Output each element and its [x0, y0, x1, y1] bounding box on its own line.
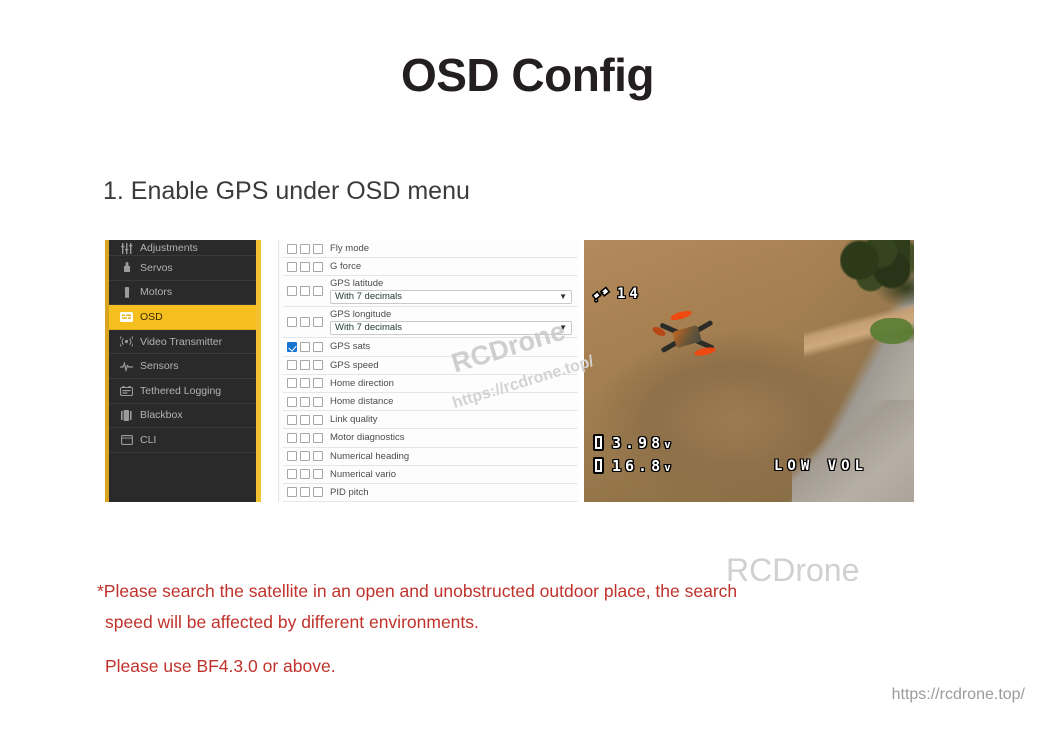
list-item[interactable]: Link quality — [283, 411, 578, 429]
osd-checkbox[interactable] — [300, 378, 310, 388]
osd-checkbox[interactable] — [300, 286, 310, 296]
betaflight-screenshot: Adjustments Servos Motors OSD Video Tran — [105, 240, 914, 502]
osd-checkbox[interactable] — [287, 378, 297, 388]
osd-checkbox[interactable] — [300, 487, 310, 497]
osd-checkbox[interactable] — [287, 433, 297, 443]
tree-canopy — [840, 240, 910, 294]
osd-checkbox[interactable] — [313, 286, 323, 296]
log-icon — [120, 385, 133, 397]
osd-checkbox-checked[interactable] — [287, 342, 297, 352]
osd-checkbox[interactable] — [300, 451, 310, 461]
gps-longitude-precision-select[interactable]: With 7 decimals ▼ — [330, 321, 572, 335]
checkbox-group[interactable] — [287, 286, 330, 296]
firmware-note: Please use BF4.3.0 or above. — [105, 656, 336, 677]
osd-screen-icon — [120, 311, 133, 323]
checkbox-group[interactable] — [287, 469, 330, 479]
osd-element-label: Home distance — [330, 396, 393, 407]
osd-checkbox[interactable] — [313, 342, 323, 352]
list-item[interactable]: Home distance — [283, 393, 578, 411]
osd-element-label: G force — [330, 261, 361, 272]
blackbox-icon — [120, 409, 133, 421]
checkbox-group[interactable] — [287, 378, 330, 388]
osd-element-label: Fly mode — [330, 243, 369, 254]
osd-element-label: Link quality — [330, 414, 378, 425]
panel-divider — [261, 240, 278, 502]
checkbox-group[interactable] — [287, 360, 330, 370]
servo-icon — [120, 262, 133, 274]
list-item[interactable]: Motor diagnostics — [283, 429, 578, 447]
osd-element-label: GPS speed — [330, 360, 379, 371]
osd-checkbox[interactable] — [300, 415, 310, 425]
footer-url: https://rcdrone.top/ — [892, 686, 1025, 704]
osd-elements-list: Fly mode G force GPS latitude With 7 dec… — [278, 240, 578, 502]
drone-quadcopter — [652, 310, 724, 366]
osd-checkbox[interactable] — [300, 262, 310, 272]
motor-icon — [120, 286, 133, 298]
osd-checkbox[interactable] — [287, 317, 297, 327]
checkbox-group[interactable] — [287, 415, 330, 425]
sidebar-item-label: Sensors — [140, 360, 179, 372]
sidebar-item-adjustments[interactable]: Adjustments — [109, 240, 256, 256]
osd-checkbox[interactable] — [287, 451, 297, 461]
grass-patch — [870, 318, 912, 344]
osd-checkbox[interactable] — [300, 397, 310, 407]
betaflight-sidebar: Adjustments Servos Motors OSD Video Tran — [105, 240, 261, 502]
osd-element-label: Motor diagnostics — [330, 432, 404, 443]
list-item[interactable]: Numerical heading — [283, 448, 578, 466]
sidebar-item-label: Blackbox — [140, 409, 183, 421]
page-title: OSD Config — [0, 48, 1055, 102]
osd-checkbox[interactable] — [313, 262, 323, 272]
terminal-icon — [120, 434, 133, 446]
sidebar-item-blackbox[interactable]: Blackbox — [109, 404, 256, 429]
osd-checkbox[interactable] — [287, 262, 297, 272]
sidebar-item-label: Video Transmitter — [140, 336, 222, 348]
gps-latitude-precision-select[interactable]: With 7 decimals ▼ — [330, 290, 572, 304]
checkbox-group[interactable] — [287, 451, 330, 461]
sidebar-item-motors[interactable]: Motors — [109, 281, 256, 306]
checkbox-group[interactable] — [287, 433, 330, 443]
osd-checkbox[interactable] — [300, 317, 310, 327]
list-item[interactable]: Home direction — [283, 375, 578, 393]
checkbox-group[interactable] — [287, 397, 330, 407]
propeller — [669, 309, 692, 322]
osd-checkbox[interactable] — [300, 342, 310, 352]
waveform-icon — [120, 360, 133, 372]
list-item[interactable]: Numerical vario — [283, 466, 578, 484]
osd-checkbox[interactable] — [313, 469, 323, 479]
osd-element-label: GPS sats — [330, 341, 370, 352]
osd-checkbox[interactable] — [287, 487, 297, 497]
list-item[interactable]: G force — [283, 258, 578, 276]
battery-cell-icon — [593, 434, 604, 451]
checkbox-group[interactable] — [287, 342, 330, 352]
checkbox-group[interactable] — [287, 262, 330, 272]
propeller — [694, 346, 717, 357]
list-item[interactable]: GPS latitude With 7 decimals ▼ — [283, 276, 578, 307]
note-line-2: speed will be affected by different envi… — [97, 607, 927, 638]
select-value: With 7 decimals — [335, 291, 402, 302]
sidebar-item-label: Motors — [140, 286, 172, 298]
osd-element-label: Numerical heading — [330, 451, 409, 462]
chevron-down-icon: ▼ — [559, 293, 567, 301]
checkbox-group[interactable] — [287, 317, 330, 327]
chevron-down-icon: ▼ — [559, 324, 567, 332]
osd-checkbox[interactable] — [287, 244, 297, 254]
sidebar-item-video-transmitter[interactable]: Video Transmitter — [109, 330, 256, 355]
sidebar-item-osd[interactable]: OSD — [109, 305, 256, 330]
osd-checkbox[interactable] — [287, 469, 297, 479]
sidebar-item-cli[interactable]: CLI — [109, 428, 256, 453]
sidebar-item-tethered-logging[interactable]: Tethered Logging — [109, 379, 256, 404]
osd-checkbox[interactable] — [313, 244, 323, 254]
sliders-icon — [120, 242, 133, 254]
step-heading: 1. Enable GPS under OSD menu — [103, 177, 470, 206]
osd-checkbox[interactable] — [313, 433, 323, 443]
fpv-osd-preview: 14 3.98v 16.8v LOW VOL — [584, 240, 914, 502]
osd-element-field: GPS latitude With 7 decimals ▼ — [330, 279, 578, 304]
sidebar-item-label: Adjustments — [140, 242, 198, 254]
osd-cell-voltage: 3.98v — [612, 434, 675, 452]
sidebar-item-label: Tethered Logging — [140, 385, 221, 397]
osd-element-label: Home direction — [330, 378, 394, 389]
osd-checkbox[interactable] — [287, 286, 297, 296]
sidebar-item-label: CLI — [140, 434, 156, 446]
osd-element-label: GPS longitude — [330, 310, 578, 320]
osd-checkbox[interactable] — [313, 487, 323, 497]
osd-element-label: GPS latitude — [330, 279, 578, 289]
select-value: With 7 decimals — [335, 322, 402, 333]
list-item[interactable]: GPS longitude With 7 decimals ▼ — [283, 307, 578, 338]
osd-checkbox[interactable] — [313, 360, 323, 370]
battery-pack-icon — [593, 457, 604, 474]
list-item[interactable]: PID pitch — [283, 484, 578, 502]
osd-checkbox[interactable] — [300, 360, 310, 370]
osd-checkbox[interactable] — [313, 378, 323, 388]
sidebar-item-label: OSD — [140, 311, 163, 323]
osd-checkbox[interactable] — [287, 415, 297, 425]
osd-checkbox[interactable] — [313, 451, 323, 461]
osd-checkbox[interactable] — [313, 415, 323, 425]
list-item[interactable]: Fly mode — [283, 240, 578, 258]
sidebar-item-servos[interactable]: Servos — [109, 256, 256, 281]
osd-checkbox[interactable] — [300, 469, 310, 479]
satellite-icon — [592, 285, 612, 305]
osd-element-label: Numerical vario — [330, 469, 396, 480]
antenna-icon — [120, 336, 133, 348]
osd-low-voltage-warning: LOW VOL — [774, 458, 868, 474]
note-line-1: *Please search the satellite in an open … — [97, 576, 927, 607]
osd-checkbox[interactable] — [313, 397, 323, 407]
list-item[interactable]: GPS sats — [283, 338, 578, 356]
checkbox-group[interactable] — [287, 244, 330, 254]
osd-checkbox[interactable] — [300, 433, 310, 443]
osd-checkbox[interactable] — [287, 360, 297, 370]
checkbox-group[interactable] — [287, 487, 330, 497]
list-item[interactable]: GPS speed — [283, 357, 578, 375]
sidebar-item-sensors[interactable]: Sensors — [109, 354, 256, 379]
osd-checkbox[interactable] — [300, 244, 310, 254]
sidebar-item-label: Servos — [140, 262, 173, 274]
warning-note: *Please search the satellite in an open … — [97, 576, 927, 638]
osd-element-label: PID pitch — [330, 487, 369, 498]
osd-element-field: GPS longitude With 7 decimals ▼ — [330, 310, 578, 335]
osd-pack-voltage: 16.8v — [612, 457, 675, 475]
osd-sat-count: 14 — [617, 286, 642, 302]
osd-checkbox[interactable] — [313, 317, 323, 327]
osd-checkbox[interactable] — [287, 397, 297, 407]
